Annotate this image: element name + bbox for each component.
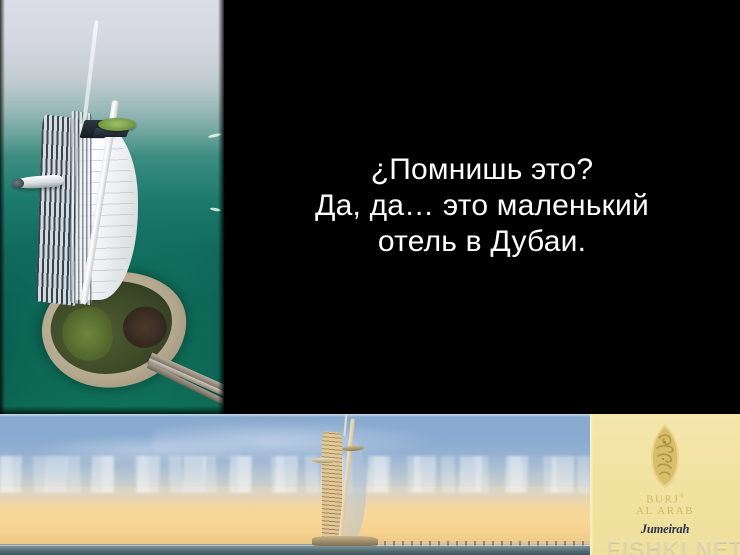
meme-image: ¿Помнишь это? Да, да… это маленький отел… (0, 0, 740, 555)
burj-al-arab-logo-panel: BURJ® AL ARAB Jumeirah (590, 414, 740, 555)
tower-base (312, 536, 378, 546)
caption-text: ¿Помнишь это? Да, да… это маленький отел… (315, 152, 649, 260)
logo-name-line-1: BURJ (646, 494, 679, 506)
caption-line-1: ¿Помнишь это? (315, 152, 649, 188)
jumeirah-wordmark: Jumeirah (590, 522, 740, 537)
caption-line-2: Да, да… это маленький (315, 188, 649, 224)
burj-al-arab-arabic-calligraphy-emblem-icon (648, 423, 682, 489)
top-row: ¿Помнишь это? Да, да… это маленький отел… (0, 0, 740, 414)
bottom-row: BURJ® AL ARAB Jumeirah FISHKI.NET (0, 414, 740, 555)
cloud-band (0, 456, 590, 493)
skyview-restaurant-cantilever (312, 458, 334, 463)
photo-top-edge (0, 414, 590, 417)
burj-al-arab-tower (36, 98, 176, 308)
logo-name-line-2: AL ARAB (636, 505, 694, 517)
tower-mast (343, 414, 348, 436)
sunset-burj-al-arab-photo (0, 414, 590, 555)
registered-trademark-icon: ® (679, 494, 684, 500)
sea-band (0, 546, 590, 555)
aerial-burj-al-arab-photo (0, 0, 224, 414)
restaurant-pod (12, 178, 25, 189)
horizon-glow (0, 493, 590, 544)
photo-left-vignette (0, 0, 5, 414)
logo-wordmark: BURJ® AL ARAB (590, 492, 740, 518)
burj-al-arab-tower-sunset (318, 418, 374, 546)
helipad (98, 118, 136, 131)
caption-line-3: отель в Дубаи. (315, 224, 649, 260)
photo-bottom-vignette (0, 406, 224, 414)
caption-area: ¿Помнишь это? Да, да… это маленький отел… (224, 0, 740, 414)
